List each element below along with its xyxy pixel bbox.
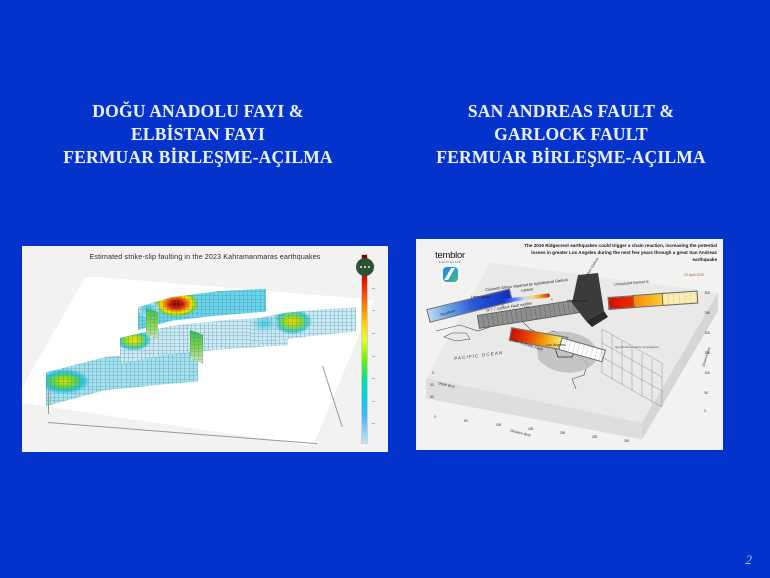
- title-left: DOĞU ANADOLU FAYI & ELBİSTAN FAYI FERMUA…: [18, 100, 378, 169]
- tick-50: 50: [704, 391, 708, 395]
- badge-dot: [364, 266, 367, 269]
- bottom-axis-ticks: 0 50 100 150 200 250 300: [434, 411, 664, 433]
- tick-20: 20: [430, 383, 434, 387]
- depth-axis-ticks: 0 20 40: [426, 371, 442, 405]
- tick-0: 0: [434, 415, 436, 419]
- figure-kahramanmaras-slip: Estimated strike-slip faulting in the 20…: [22, 246, 388, 452]
- label-date-stamp: 22 April 2020: [684, 273, 704, 277]
- title-right-line-2: GARLOCK FAULT: [382, 123, 760, 146]
- title-right-line-3: FERMUAR BİRLEŞME-AÇILMA: [382, 146, 760, 169]
- page-number: 2: [746, 552, 753, 568]
- title-right-line-1: SAN ANDREAS FAULT &: [382, 100, 760, 123]
- tick-100: 100: [705, 371, 710, 375]
- coulomb-stress-legend: Coulomb Stress imparted by hypothetical …: [481, 283, 573, 309]
- badge-dot: [360, 266, 363, 269]
- tick-250: 250: [705, 311, 710, 315]
- title-left-line-2: ELBİSTAN FAYI: [18, 123, 378, 146]
- slip-colorbar: [361, 254, 368, 444]
- figure-ridgecrest-garlock-sanandreas: temblor EARTHQUAKE The 2019 Ridgecrest e…: [416, 239, 723, 450]
- tick-150: 150: [528, 427, 533, 431]
- slip-colorbar-ticks: [369, 254, 375, 442]
- tick-250: 250: [592, 435, 597, 439]
- label-hypothetical-rupture: hypothetical rupture propagation: [614, 345, 660, 349]
- legend-high-label: Higher hazard: [567, 299, 587, 303]
- label-los-angeles: Los Angeles: [544, 343, 568, 347]
- tick-0: 0: [432, 371, 434, 375]
- title-left-line-1: DOĞU ANADOLU FAYI &: [18, 100, 378, 123]
- more-options-badge[interactable]: [356, 258, 374, 276]
- tick-50: 50: [464, 419, 468, 423]
- title-right: SAN ANDREAS FAULT & GARLOCK FAULT FERMUA…: [382, 100, 760, 169]
- figure-left-3d-scene: [22, 246, 388, 452]
- axis-depth-left: [48, 386, 49, 414]
- right-axis-ticks: 300 250 200 150 100 50 0: [680, 287, 710, 413]
- tick-40: 40: [430, 395, 434, 399]
- tick-150: 150: [705, 351, 710, 355]
- tick-100: 100: [496, 423, 501, 427]
- tick-300: 300: [624, 439, 629, 443]
- tick-300: 300: [705, 291, 710, 295]
- title-left-line-3: FERMUAR BİRLEŞME-AÇILMA: [18, 146, 378, 169]
- tick-200: 200: [705, 331, 710, 335]
- tick-0: 0: [704, 409, 706, 413]
- tick-200: 200: [560, 431, 565, 435]
- block-diagram: 22 April 2020 Northern Garlock M 7.7 Gar…: [426, 259, 718, 445]
- badge-dot: [368, 266, 371, 269]
- slide: DOĞU ANADOLU FAYI & ELBİSTAN FAYI FERMUA…: [0, 0, 770, 578]
- legend-low-label: Lower hazard: [471, 295, 490, 299]
